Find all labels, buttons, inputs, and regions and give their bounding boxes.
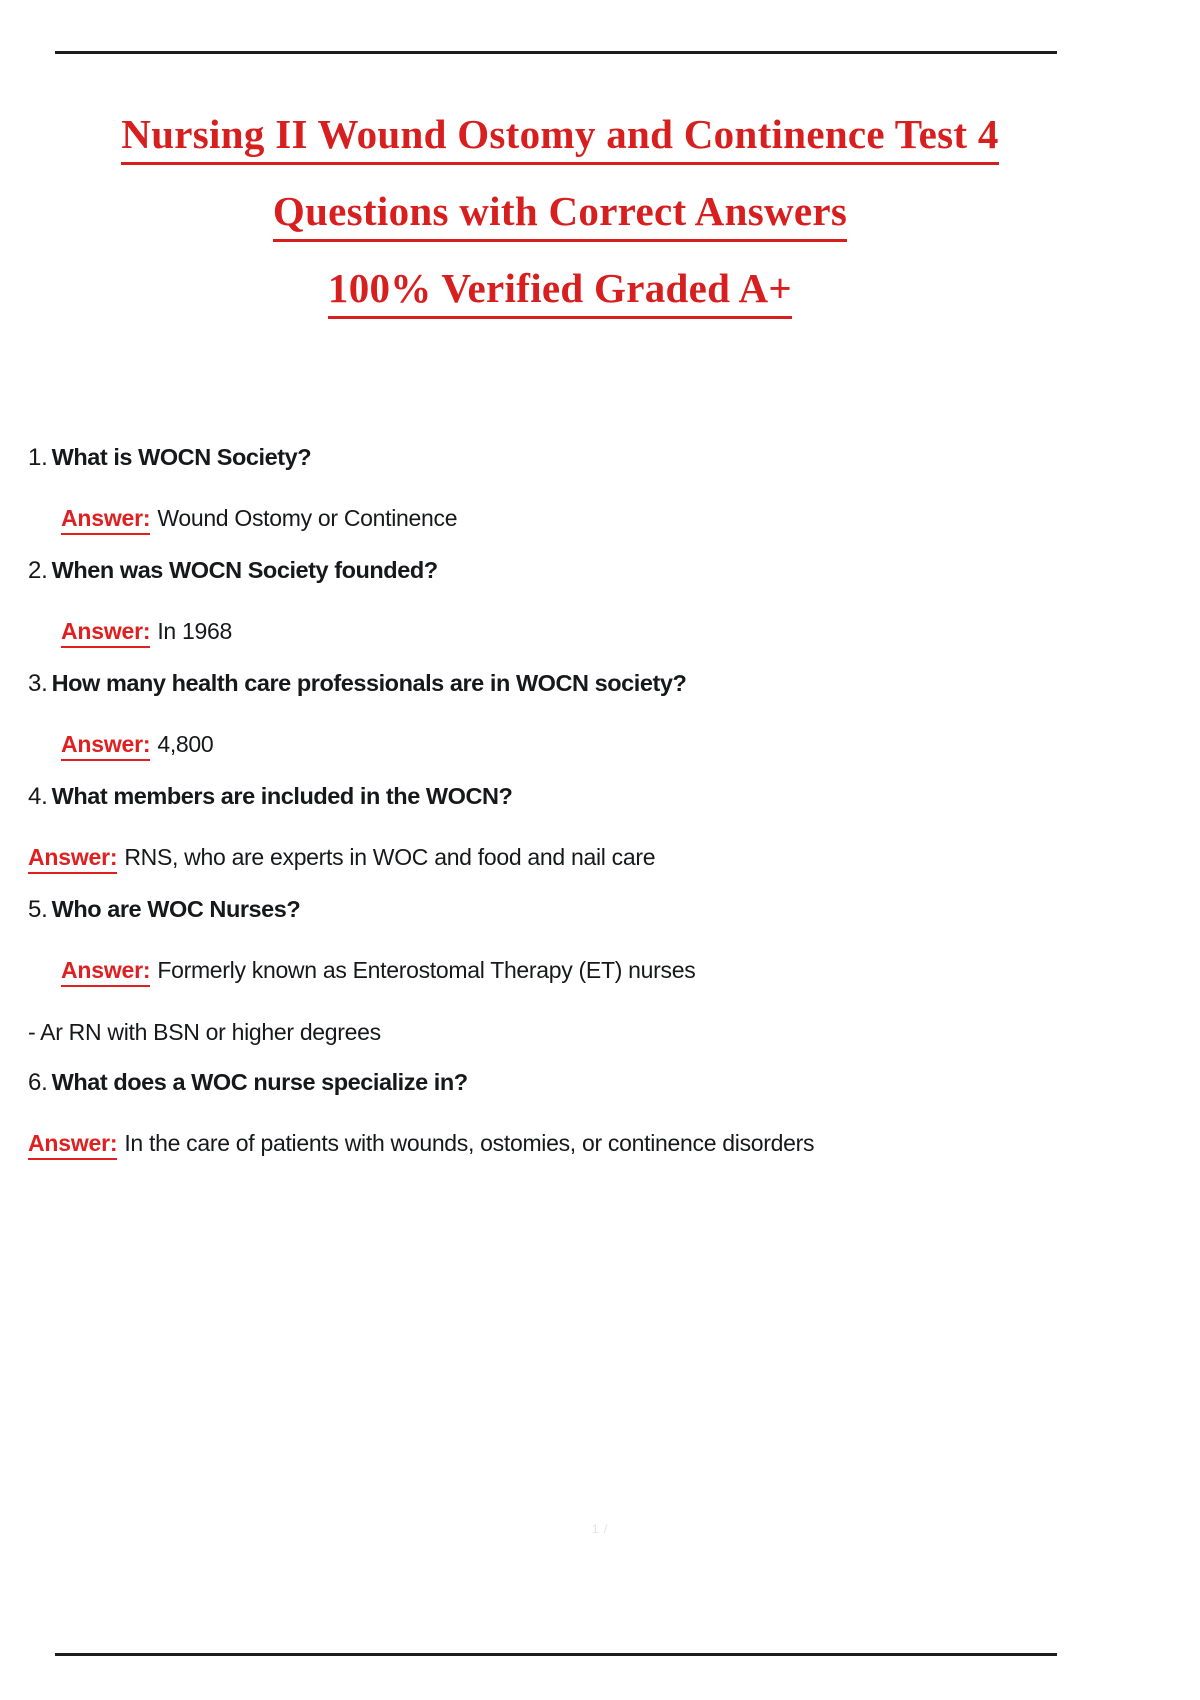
answer-line: Answer:In the care of patients with woun… — [28, 1108, 1103, 1168]
answer-line: Answer:In 1968 — [28, 596, 1103, 656]
title-line-2-text: Questions with Correct Answers — [273, 188, 847, 242]
title-line-3-text: 100% Verified Graded A+ — [328, 265, 792, 319]
answer-label: Answer: — [61, 957, 150, 987]
footer-rule — [55, 1653, 1057, 1656]
title-line-3: 100% Verified Graded A+ — [60, 250, 1060, 327]
qa-list: 1.What is WOCN Society? Answer:Wound Ost… — [28, 430, 1103, 1168]
answer-text: In the care of patients with wounds, ost… — [124, 1130, 814, 1156]
question-text: What members are included in the WOCN? — [52, 783, 513, 809]
title-line-2: Questions with Correct Answers — [60, 173, 1060, 250]
document-title: Nursing II Wound Ostomy and Continence T… — [60, 96, 1060, 327]
title-line-1-text: Nursing II Wound Ostomy and Continence T… — [121, 111, 998, 165]
answer-text: 4,800 — [157, 731, 213, 757]
question-number: 1. — [28, 444, 48, 471]
question-text: What is WOCN Society? — [52, 444, 312, 470]
answer-text: Formerly known as Enterostomal Therapy (… — [157, 957, 695, 983]
answer-text: Wound Ostomy or Continence — [157, 505, 457, 531]
answer-label: Answer: — [61, 731, 150, 761]
qa-item: 2.When was WOCN Society founded? Answer:… — [28, 543, 1103, 656]
header-rule — [55, 51, 1057, 54]
answer-label: Answer: — [28, 1130, 117, 1160]
answer-text: RNS, who are experts in WOC and food and… — [124, 844, 655, 870]
question-number: 5. — [28, 896, 48, 923]
qa-item: 4.What members are included in the WOCN?… — [28, 769, 1103, 882]
question-line: 1.What is WOCN Society? — [28, 430, 1103, 483]
qa-item: 5.Who are WOC Nurses? Answer:Formerly kn… — [28, 882, 1103, 1055]
question-text: Who are WOC Nurses? — [52, 896, 301, 922]
question-line: 2.When was WOCN Society founded? — [28, 543, 1103, 596]
qa-item: 3.How many health care professionals are… — [28, 656, 1103, 769]
answer-subpoint: - Ar RN with BSN or higher degrees — [28, 995, 1103, 1055]
question-number: 3. — [28, 670, 48, 697]
question-text: How many health care professionals are i… — [52, 670, 687, 696]
answer-label: Answer: — [28, 844, 117, 874]
question-line: 4.What members are included in the WOCN? — [28, 769, 1103, 822]
answer-line: Answer:RNS, who are experts in WOC and f… — [28, 822, 1103, 882]
answer-text: In 1968 — [157, 618, 232, 644]
question-text: What does a WOC nurse specialize in? — [52, 1069, 468, 1095]
question-text: When was WOCN Society founded? — [52, 557, 438, 583]
question-line: 3.How many health care professionals are… — [28, 656, 1103, 709]
answer-line: Answer:Wound Ostomy or Continence — [28, 483, 1103, 543]
question-line: 5.Who are WOC Nurses? — [28, 882, 1103, 935]
answer-label: Answer: — [61, 505, 150, 535]
question-number: 4. — [28, 783, 48, 810]
title-line-1: Nursing II Wound Ostomy and Continence T… — [60, 96, 1060, 173]
question-number: 2. — [28, 557, 48, 584]
answer-line: Answer:4,800 — [28, 709, 1103, 769]
question-number: 6. — [28, 1069, 48, 1096]
answer-line: Answer:Formerly known as Enterostomal Th… — [28, 935, 1103, 995]
qa-item: 1.What is WOCN Society? Answer:Wound Ost… — [28, 430, 1103, 543]
page-number-marker: 1 / — [0, 1522, 1200, 1536]
answer-label: Answer: — [61, 618, 150, 648]
question-line: 6.What does a WOC nurse specialize in? — [28, 1055, 1103, 1108]
document-page: Nursing II Wound Ostomy and Continence T… — [0, 0, 1200, 1700]
qa-item: 6.What does a WOC nurse specialize in? A… — [28, 1055, 1103, 1168]
